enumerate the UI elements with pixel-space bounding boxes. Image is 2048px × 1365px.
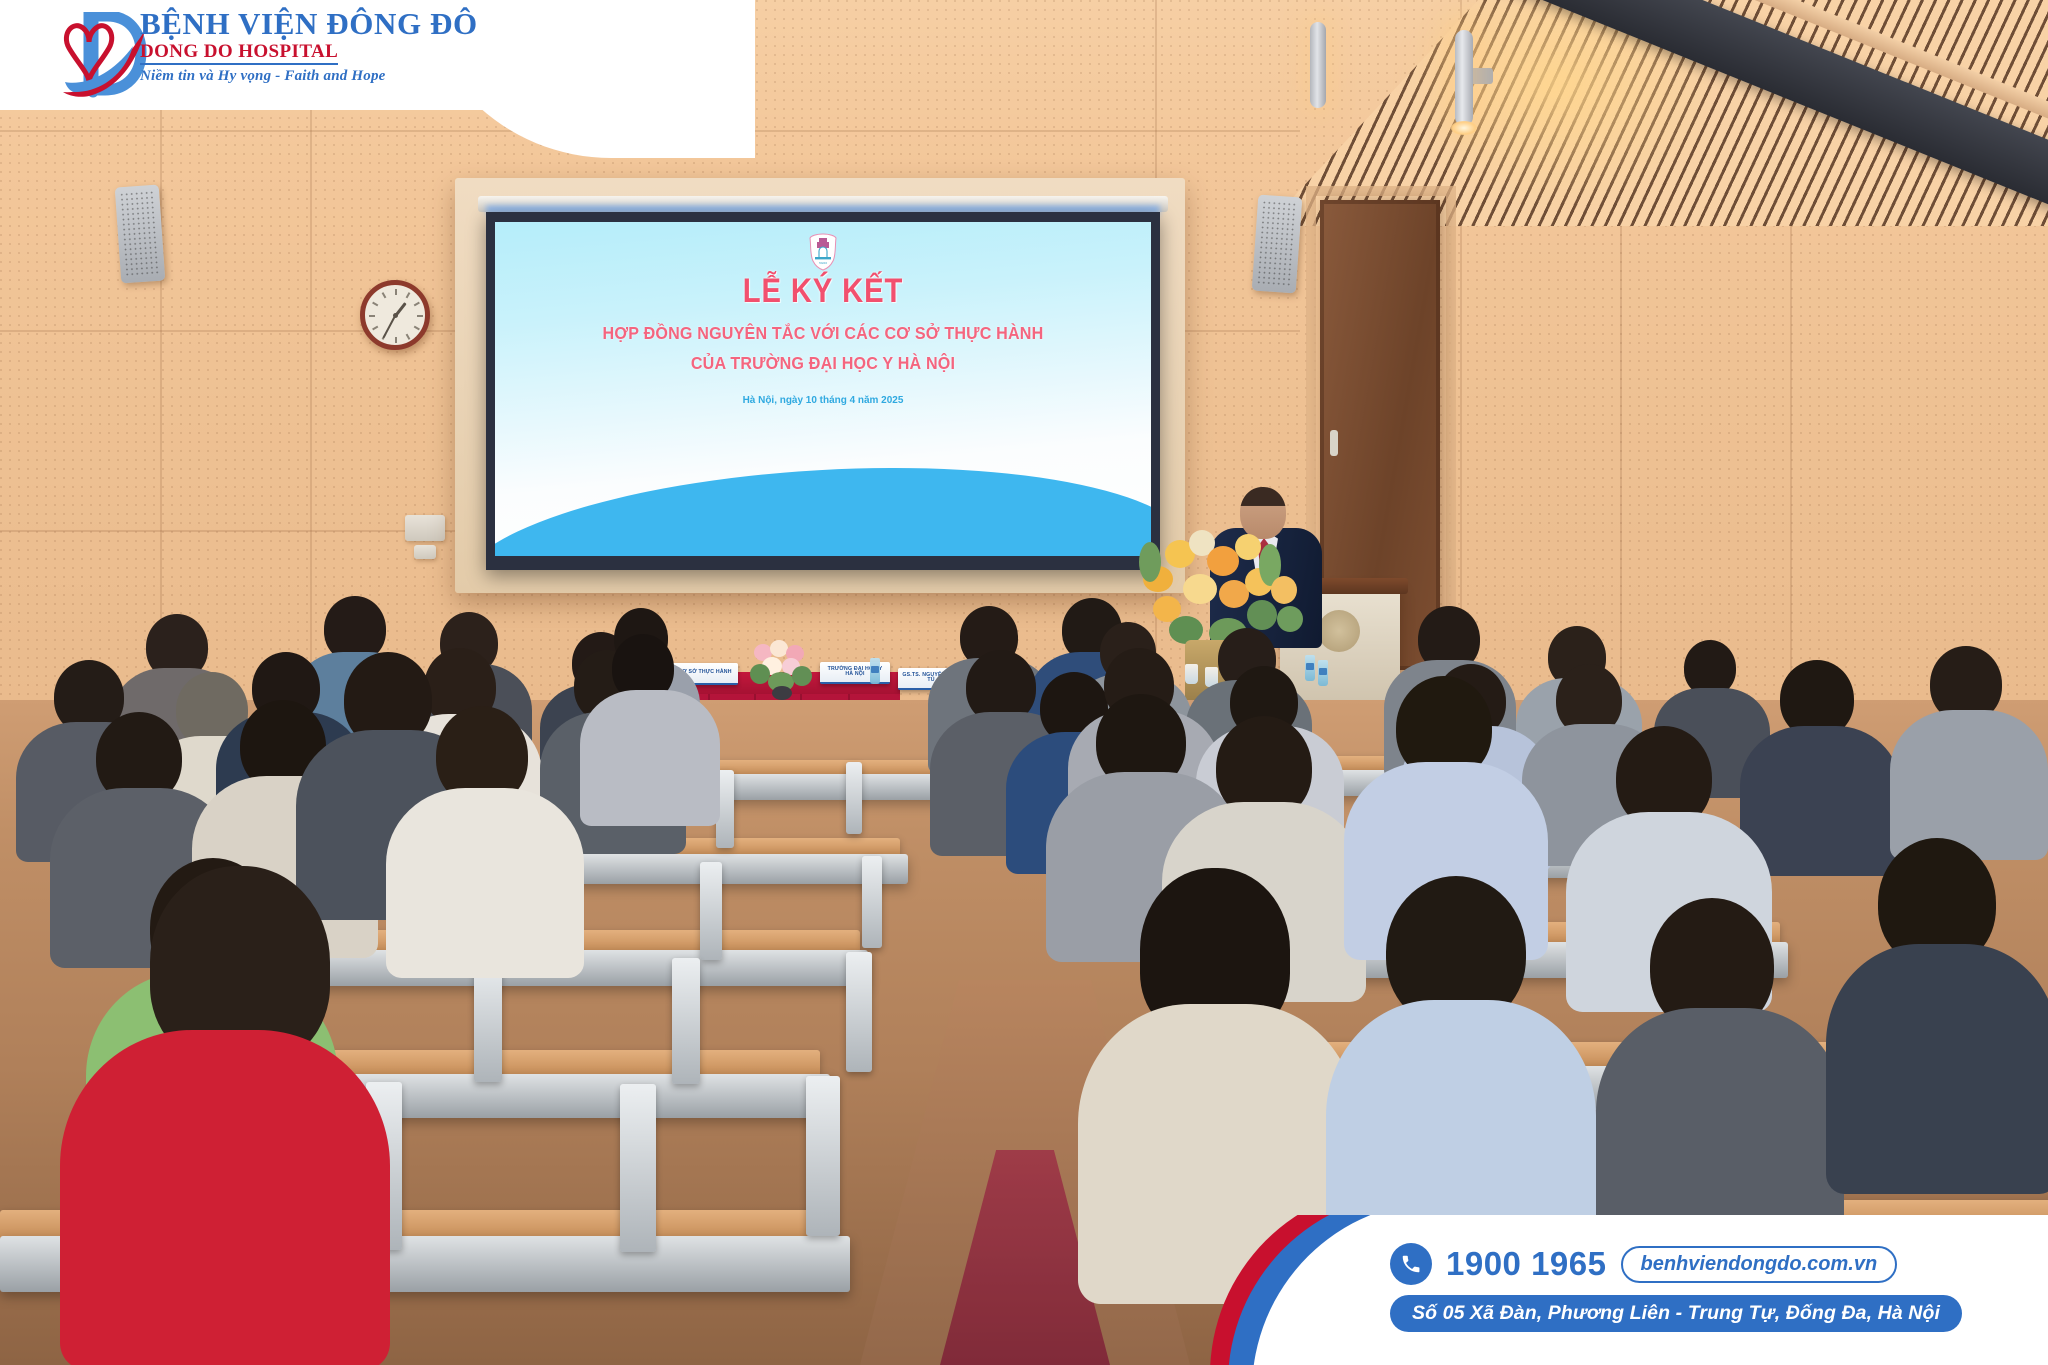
wall-speaker-icon [115, 185, 166, 284]
brand-name-en: DONG DO HOSPITAL [140, 42, 338, 65]
seat-divider [862, 856, 882, 948]
wall-speaker-icon [1252, 195, 1303, 294]
seat-divider [846, 952, 872, 1072]
hotline-number[interactable]: 1900 1965 [1446, 1245, 1607, 1283]
footer-contact-bar: 1900 1965 benhviendongdo.com.vn Số 05 Xã… [1100, 1215, 2048, 1365]
slide-wave-blue [495, 450, 1151, 556]
phone-handset-icon [1390, 1243, 1432, 1285]
website-link[interactable]: benhviendongdo.com.vn [1621, 1246, 1898, 1283]
projection-screen-icon: HANOI LỄ KÝ KẾT HỢP ĐỒNG NGUYÊN TẮC VỚI … [486, 212, 1160, 570]
seat-divider [672, 958, 700, 1084]
seat-divider [700, 862, 722, 960]
water-bottle-icon [1305, 655, 1315, 681]
slide-title: LỄ KÝ KẾT [541, 272, 1105, 311]
door-handle-icon[interactable] [1330, 430, 1338, 456]
event-photo-composite: HANOI LỄ KÝ KẾT HỢP ĐỒNG NGUYÊN TẮC VỚI … [0, 0, 2048, 1365]
slide-date: Hà Nội, ngày 10 tháng 4 năm 2025 [511, 394, 1134, 406]
wall-clock-icon [360, 280, 430, 350]
brand-text-block: BỆNH VIỆN ĐÔNG ĐÔ DONG DO HOSPITAL Niềm … [140, 8, 560, 85]
seat-divider [620, 1084, 656, 1252]
water-bottle-icon [1318, 660, 1328, 686]
wall-spotlight-icon [1455, 30, 1473, 126]
hmu-university-crest-icon: HANOI [808, 233, 838, 271]
heart-d-monogram-logo [55, 12, 147, 98]
wall-panel-seam [0, 530, 460, 532]
seat-divider [846, 762, 862, 834]
drinking-glass-icon [1185, 664, 1198, 684]
brand-tagline: Niềm tin và Hy vọng - Faith and Hope [140, 68, 560, 85]
slide-subtitle-line2: CỦA TRƯỜNG ĐẠI HỌC Y HÀ NỘI [521, 353, 1125, 374]
presentation-slide: HANOI LỄ KÝ KẾT HỢP ĐỒNG NGUYÊN TẮC VỚI … [495, 222, 1151, 556]
water-bottle-icon [870, 658, 880, 684]
wall-spotlight-icon [1310, 22, 1326, 108]
table-flower-arrangement-icon [748, 640, 814, 698]
slide-subtitle-line1: HỢP ĐỒNG NGUYÊN TẮC VỚI CÁC CƠ SỞ THỰC H… [521, 323, 1125, 344]
brand-name-vi: BỆNH VIỆN ĐÔNG ĐÔ [140, 8, 560, 40]
wall-control-panel-small [414, 545, 436, 559]
svg-text:HANOI: HANOI [819, 261, 828, 265]
wall-control-panel [405, 515, 445, 541]
address-text: Số 05 Xã Đàn, Phương Liên - Trung Tự, Đố… [1390, 1295, 1962, 1332]
seat-divider [806, 1076, 840, 1236]
